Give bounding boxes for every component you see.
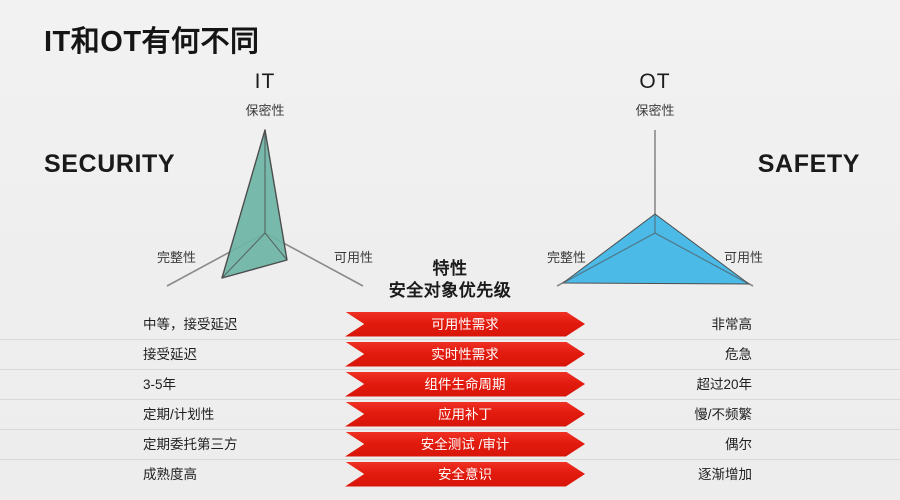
radar-title-it: IT [115,70,415,94]
matrix-cell-it: 中等，接受延迟 [143,310,238,339]
matrix-cell-it: 3-5年 [143,370,176,399]
radar-chart-it: IT 保密性 完整性 可用性 [115,70,415,270]
radar-title-ot: OT [505,70,805,94]
matrix-cell-it: 接受延迟 [143,340,197,369]
matrix-attribute-chevron: 安全意识 [345,462,585,487]
table-row: 成熟度高 安全意识 逐渐增加 [0,459,900,489]
table-row: 3-5年 组件生命周期 超过20年 [0,369,900,399]
matrix-cell-it: 定期/计划性 [143,400,214,429]
matrix-attribute-chevron: 实时性需求 [345,342,585,367]
matrix-attribute-chevron: 组件生命周期 [345,372,585,397]
matrix-cell-ot: 超过20年 [696,370,752,399]
table-row: 中等，接受延迟 可用性需求 非常高 [0,310,900,339]
matrix-cell-ot: 偶尔 [725,430,752,459]
matrix-cell-ot: 非常高 [712,310,753,339]
matrix-header-line2: 安全对象优先级 [0,280,900,302]
table-row: 定期/计划性 应用补丁 慢/不频繁 [0,399,900,429]
matrix-cell-ot: 危急 [725,340,752,369]
matrix-attribute-chevron: 安全测试 /审计 [345,432,585,457]
matrix-header-line1: 特性 [0,258,900,280]
comparison-matrix: 特性 安全对象优先级 中等，接受延迟 可用性需求 非常高 接受延迟 实时性需求 … [0,258,900,489]
slide-canvas: IT和OT有何不同 SECURITY SAFETY IT 保密性 完整性 可用性… [0,0,900,500]
matrix-rows: 中等，接受延迟 可用性需求 非常高 接受延迟 实时性需求 危急 3-5年 组件生… [0,310,900,489]
page-title: IT和OT有何不同 [44,18,260,60]
table-row: 接受延迟 实时性需求 危急 [0,339,900,369]
radar-axis-label-confidentiality-it: 保密性 [115,100,415,119]
matrix-header: 特性 安全对象优先级 [0,258,900,302]
radar-area-it [222,130,287,278]
matrix-cell-it: 定期委托第三方 [143,430,238,459]
radar-chart-ot: OT 保密性 完整性 可用性 [505,70,805,270]
matrix-cell-ot: 慢/不频繁 [694,400,752,429]
table-row: 定期委托第三方 安全测试 /审计 偶尔 [0,429,900,459]
matrix-cell-it: 成熟度高 [143,460,197,489]
matrix-attribute-chevron: 应用补丁 [345,402,585,427]
matrix-attribute-chevron: 可用性需求 [345,312,585,337]
radar-axis-label-confidentiality-ot: 保密性 [505,100,805,119]
matrix-cell-ot: 逐渐增加 [698,460,752,489]
